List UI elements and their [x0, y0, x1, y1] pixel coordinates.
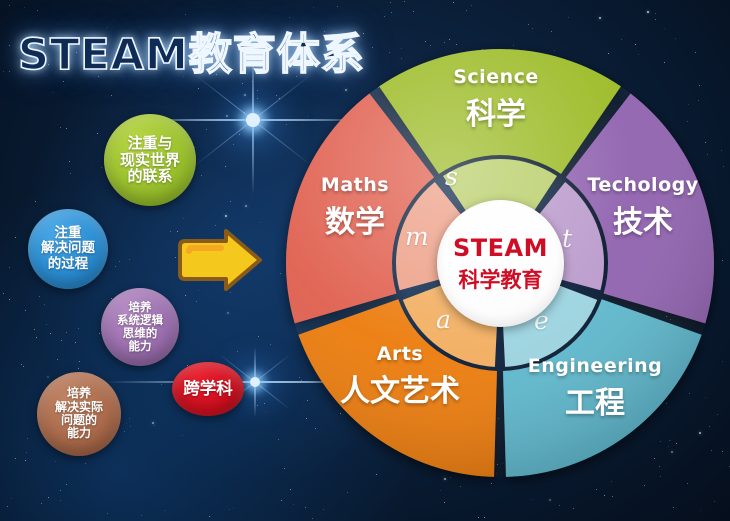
bubble-green-label: 注重与现实世界的联系	[116, 135, 184, 185]
bubble-red-label: 跨学科	[179, 380, 237, 398]
bubble-blue-label: 注重解决问题的过程	[37, 226, 99, 271]
right-arrow-icon	[174, 228, 264, 292]
bubble-real-world-connection[interactable]: 注重与现实世界的联系	[104, 114, 196, 206]
bubble-systematic-logic-thinking[interactable]: 培养系统逻辑思维的能力	[101, 288, 179, 366]
bubble-problem-solving-process[interactable]: 注重解决问题的过程	[28, 209, 108, 289]
steam-wheel-diagram	[285, 48, 715, 478]
poster-canvas: STEAM教育体系 注重与现实世界的联系 注重解决问题的过程 培养系统逻辑思维的…	[0, 0, 730, 521]
bubble-interdisciplinary[interactable]: 跨学科	[172, 362, 244, 416]
bubble-practical-problem-ability[interactable]: 培养解决实际问题的能力	[37, 372, 121, 456]
wheel-inner-segment-science[interactable]	[443, 159, 557, 211]
bubble-purple-label: 培养系统逻辑思维的能力	[113, 301, 167, 353]
bubble-brown-label: 培养解决实际问题的能力	[51, 387, 107, 441]
